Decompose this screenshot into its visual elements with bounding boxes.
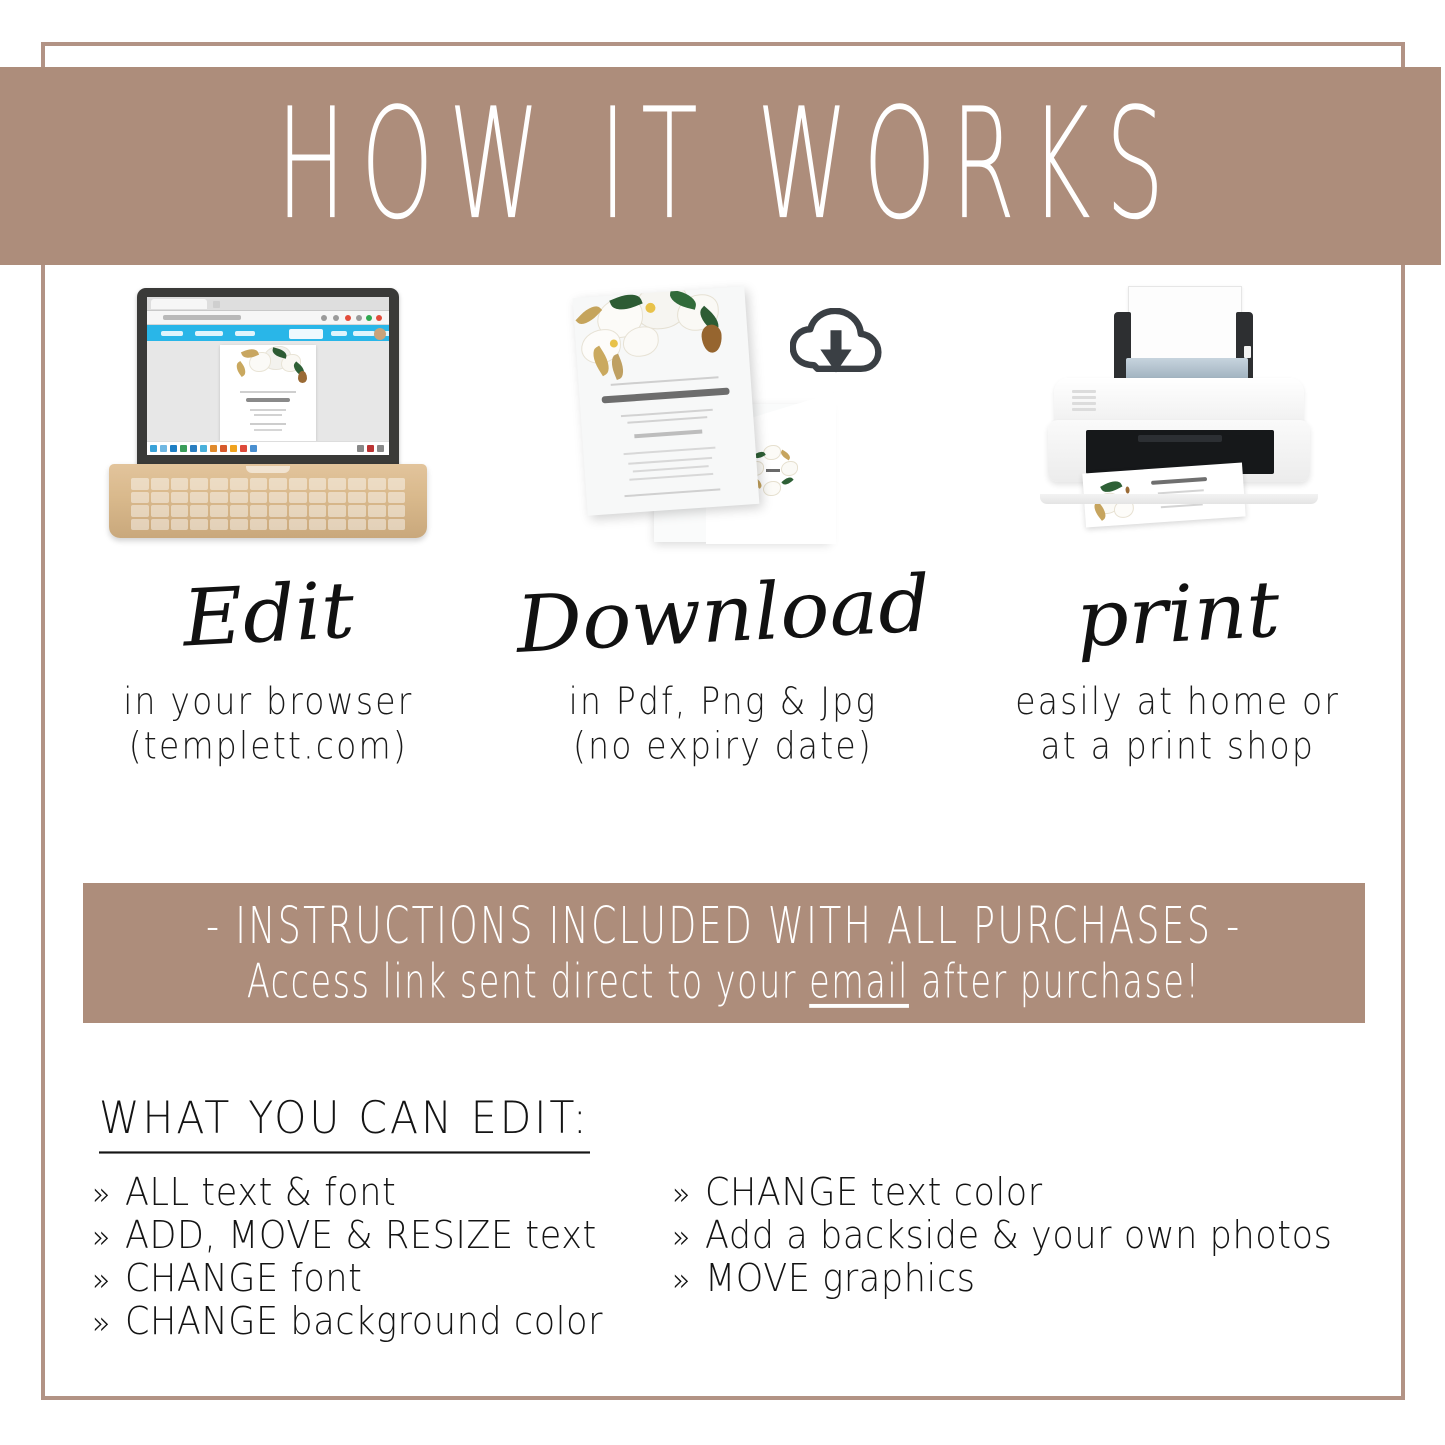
list-item-label: ALL text & font (125, 1170, 396, 1217)
step-edit: Edit in your browser (templett.com) (41, 278, 496, 838)
step-caption-edit: in your browser (templett.com) (123, 679, 413, 769)
email-link[interactable]: email (810, 955, 910, 1008)
control-panel (1072, 390, 1096, 410)
browser-icon-1 (321, 315, 327, 321)
instructions-subline-before: Access link sent direct to your (247, 955, 809, 1008)
caption-line-1: easily at home or (1015, 679, 1340, 724)
taskbar (147, 441, 389, 455)
list-item-label: MOVE graphics (705, 1256, 976, 1303)
instructions-banner: - INSTRUCTIONS INCLUDED WITH ALL PURCHAS… (83, 883, 1365, 1023)
instructions-headline: - INSTRUCTIONS INCLUDED WITH ALL PURCHAS… (206, 897, 1242, 956)
step-download: Download in Pdf, Png & Jpg (no expiry da… (496, 278, 951, 838)
steps-row: Edit in your browser (templett.com) (41, 278, 1405, 838)
list-item: »MOVE graphics (672, 1256, 1392, 1303)
browser-icon-3 (345, 315, 351, 321)
laptop-browser-invitation-image (41, 278, 496, 570)
caption-line-2: (templett.com) (123, 724, 413, 769)
step-script-label-edit: Edit (181, 572, 356, 659)
browser-icon-6 (376, 315, 382, 321)
browser-icon-5 (366, 315, 372, 321)
browser-tab (151, 299, 207, 309)
list-item: »ALL text & font (92, 1170, 672, 1217)
browser-icon-2 (333, 315, 339, 321)
invitation-illustration (558, 284, 888, 564)
list-item-label: CHANGE background color (125, 1299, 603, 1346)
download-cloud-icon (790, 308, 882, 380)
instructions-subline-after: after purchase! (909, 955, 1200, 1008)
caption-line-1: in your browser (123, 679, 413, 724)
bullet-mark-icon: » (92, 1175, 111, 1216)
list-item-label: Add a backside & your own photos (705, 1213, 1332, 1260)
step-script-label-print: print (1074, 571, 1281, 660)
step-caption-download: in Pdf, Png & Jpg (no expiry date) (569, 679, 878, 769)
list-item: »CHANGE text color (672, 1170, 1392, 1217)
edit-list-left: »ALL text & font »ADD, MOVE & RESIZE tex… (92, 1172, 672, 1344)
toolbar-menu-view (235, 331, 255, 336)
browser-addressbar (147, 311, 389, 325)
caption-line-2: at a print shop (1015, 724, 1340, 769)
bullet-mark-icon: » (672, 1175, 691, 1216)
avatar (374, 328, 386, 340)
invitation-preview (220, 345, 316, 442)
printer-shelf (1040, 494, 1318, 504)
laptop-base (109, 464, 427, 538)
invitation-envelope-image (496, 278, 951, 570)
url-text (163, 315, 241, 320)
bullet-mark-icon: » (92, 1218, 111, 1259)
printer-image (950, 278, 1405, 570)
toolbar-menu-more (353, 331, 375, 336)
laptop-keyboard (131, 478, 405, 530)
bullet-mark-icon: » (92, 1261, 111, 1302)
invitation-card (573, 286, 760, 515)
list-item: »CHANGE font (92, 1256, 672, 1303)
step-script-label-download: Download (514, 565, 932, 665)
list-item-label: ADD, MOVE & RESIZE text (125, 1213, 597, 1260)
bullet-mark-icon: » (672, 1261, 691, 1302)
page-title: HOW IT WORKS (262, 89, 1179, 242)
list-item: »ADD, MOVE & RESIZE text (92, 1213, 672, 1260)
printer-illustration (1022, 280, 1334, 566)
edit-lists: »ALL text & font »ADD, MOVE & RESIZE tex… (92, 1172, 1392, 1344)
editor-canvas (147, 341, 389, 442)
bullet-mark-icon: » (672, 1218, 691, 1259)
edit-section-heading: WHAT YOU CAN EDIT: (99, 1092, 590, 1154)
toolbar-menu-file (161, 331, 183, 336)
bullet-mark-icon: » (92, 1304, 111, 1345)
list-item-label: CHANGE text color (705, 1170, 1043, 1217)
toolbar-menu-save (331, 331, 347, 336)
list-item-label: CHANGE font (125, 1256, 362, 1303)
list-item: »Add a backside & your own photos (672, 1213, 1392, 1260)
caption-line-1: in Pdf, Png & Jpg (569, 679, 878, 724)
laptop-screen (147, 297, 389, 455)
browser-tabstrip (147, 297, 389, 311)
toolbar-menu-edit (195, 331, 223, 336)
header-banner: HOW IT WORKS (0, 67, 1441, 265)
laptop-hinge (246, 466, 290, 473)
toolbar-download-button (289, 329, 323, 339)
list-item: »CHANGE background color (92, 1299, 672, 1346)
step-caption-print: easily at home or at a print shop (1015, 679, 1340, 769)
instructions-subline: Access link sent direct to your email af… (247, 955, 1200, 1008)
browser-icon-4 (356, 315, 362, 321)
poster-canvas: HOW IT WORKS (0, 0, 1445, 1445)
step-print: print easily at home or at a print shop (950, 278, 1405, 838)
caption-line-2: (no expiry date) (569, 724, 878, 769)
laptop-illustration (109, 288, 427, 538)
edit-list-right: »CHANGE text color »Add a backside & you… (672, 1172, 1392, 1344)
laptop-lid (137, 288, 399, 470)
new-tab-icon (213, 301, 220, 308)
